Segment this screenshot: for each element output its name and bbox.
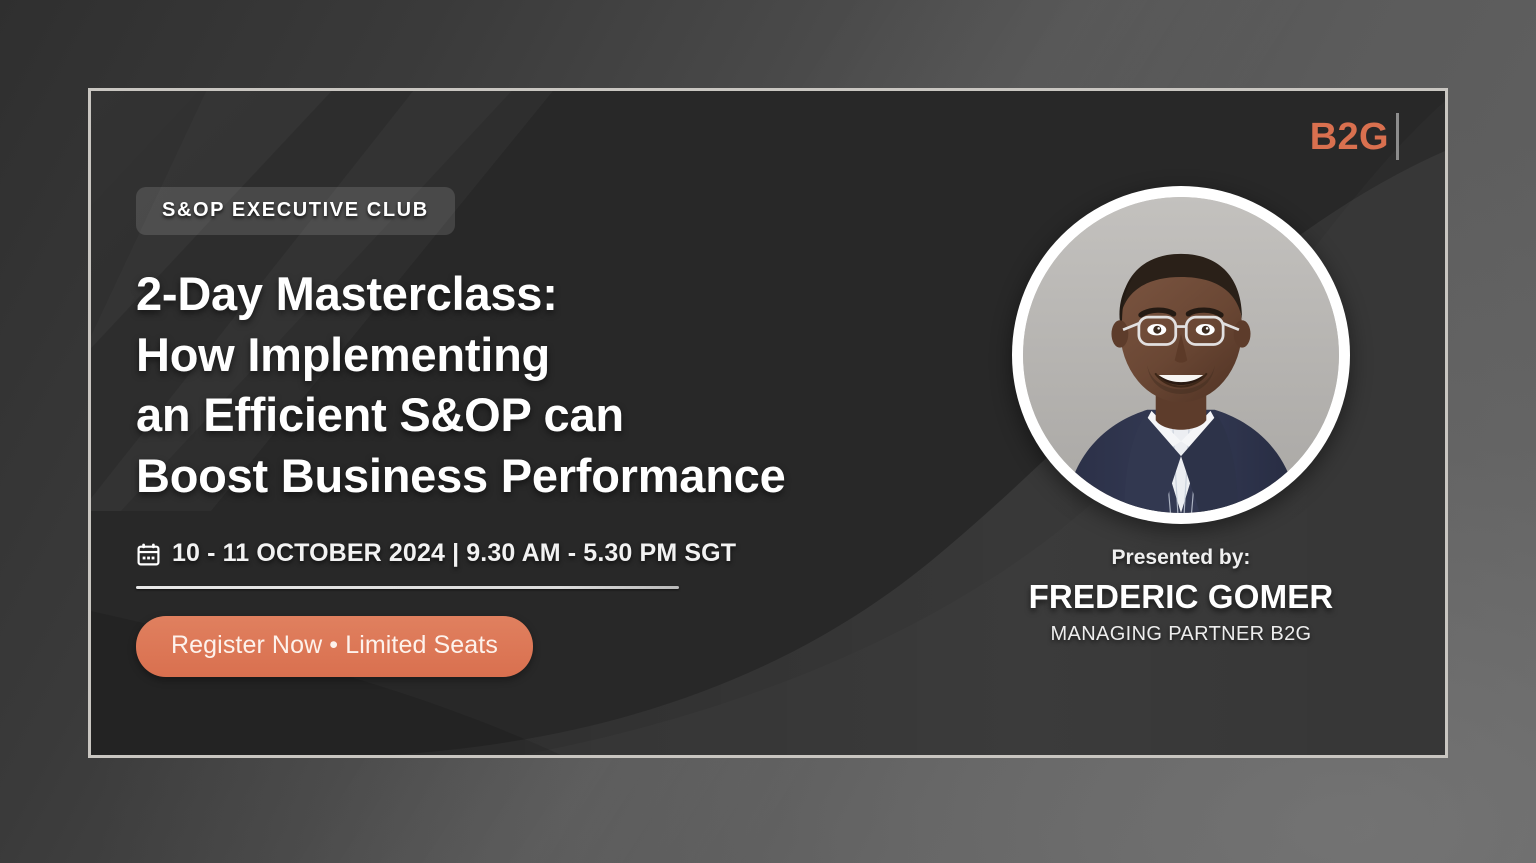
event-banner-card: B2G S&OP EXECUTIVE CLUB 2-Day Masterclas…: [88, 88, 1448, 758]
calendar-icon: [136, 542, 161, 567]
brand-logo: B2G: [1310, 113, 1399, 160]
logo-divider-bar: [1396, 113, 1399, 160]
presenter-name: FREDERIC GOMER: [1029, 578, 1334, 616]
presenter-block: Presented by: FREDERIC GOMER MANAGING PA…: [1029, 546, 1334, 646]
page-title: 2-Day Masterclass: How Implementing an E…: [136, 264, 936, 507]
avatar: [1023, 197, 1339, 513]
presenter-role: MANAGING PARTNER B2G: [1029, 623, 1334, 646]
register-now-button[interactable]: Register Now • Limited Seats: [136, 616, 533, 677]
section-divider: [136, 586, 679, 589]
headline-line-2: How Implementing: [136, 325, 936, 386]
event-datetime-text: 10 - 11 OCTOBER 2024 | 9.30 AM - 5.30 PM…: [172, 539, 736, 568]
banner-left-column: S&OP EXECUTIVE CLUB 2-Day Masterclass: H…: [136, 187, 936, 677]
presented-by-label: Presented by:: [1029, 546, 1334, 570]
speaker-avatar-frame: [1012, 186, 1350, 524]
headline-line-4: Boost Business Performance: [136, 446, 936, 507]
headline-line-1: 2-Day Masterclass:: [136, 264, 936, 325]
headline-line-3: an Efficient S&OP can: [136, 385, 936, 446]
status-badge: S&OP EXECUTIVE CLUB: [136, 187, 455, 235]
event-datetime: 10 - 11 OCTOBER 2024 | 9.30 AM - 5.30 PM…: [136, 539, 936, 568]
logo-text: B2G: [1310, 118, 1389, 156]
banner-right-column: Presented by: FREDERIC GOMER MANAGING PA…: [951, 186, 1411, 646]
